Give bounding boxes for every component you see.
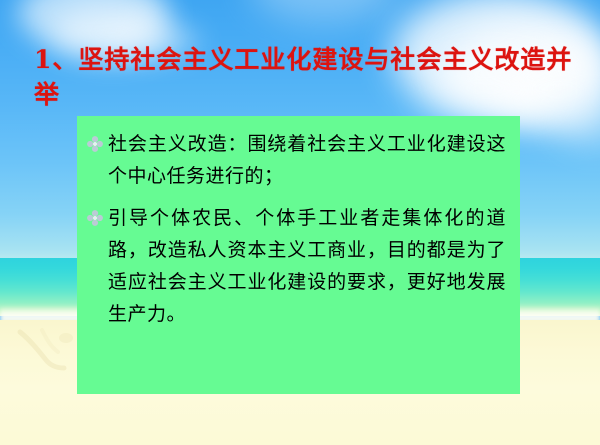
bullet-item: 引导个体农民、个体手工业者走集体化的道路，改造私人资本主义工商业，目的都是为了适…: [87, 202, 506, 330]
bullet-text: 社会主义改造：围绕着社会主义工业化建设这个中心任务进行的；: [108, 128, 506, 192]
bullet-text: 引导个体农民、个体手工业者走集体化的道路，改造私人资本主义工商业，目的都是为了适…: [108, 202, 506, 330]
presentation-slide: 1、坚持社会主义工业化建设与社会主义改造并举 社会主义改造：围绕着社会主义工业化…: [0, 0, 600, 445]
content-box: 社会主义改造：围绕着社会主义工业化建设这个中心任务进行的； 引导个体农民、个体手…: [77, 116, 520, 394]
sand-footprint-mark: [16, 328, 74, 372]
bullet-item: 社会主义改造：围绕着社会主义工业化建设这个中心任务进行的；: [87, 128, 506, 192]
cloud-icon: [250, 0, 400, 22]
diamond-clover-bullet-icon: [87, 136, 103, 152]
slide-title: 1、坚持社会主义工业化建设与社会主义改造并举: [34, 42, 574, 112]
diamond-clover-bullet-icon: [87, 210, 103, 226]
